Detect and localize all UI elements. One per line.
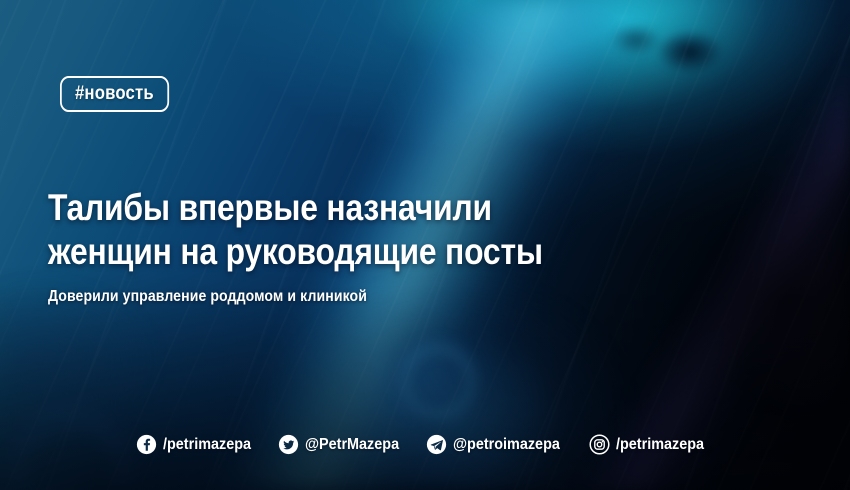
social-item-facebook[interactable]: /petrimazepa — [136, 434, 261, 455]
social-handle-telegram: @petroimazepa — [453, 436, 560, 454]
social-handle-twitter: @PetrMazepa — [305, 436, 399, 454]
facebook-icon — [136, 434, 157, 455]
headline: Талибы впервые назначили женщин на руков… — [48, 186, 598, 274]
social-item-twitter[interactable]: @PetrMazepa — [278, 434, 410, 455]
telegram-icon — [426, 434, 447, 455]
category-badge[interactable]: #новость — [60, 76, 169, 112]
social-item-telegram[interactable]: @petroimazepa — [426, 434, 572, 455]
social-handle-instagram: /petrimazepa — [616, 436, 704, 454]
social-item-instagram[interactable]: /petrimazepa — [589, 434, 714, 455]
social-bar: /petrimazepa @PetrMazepa @petroimazepa — [0, 434, 850, 455]
instagram-icon — [589, 434, 610, 455]
news-card: #новость Талибы впервые назначили женщин… — [0, 0, 850, 490]
social-handle-facebook: /petrimazepa — [163, 436, 251, 454]
category-badge-label: #новость — [75, 83, 154, 105]
subtitle: Доверили управление роддомом и клиникой — [48, 288, 367, 306]
twitter-icon — [278, 434, 299, 455]
